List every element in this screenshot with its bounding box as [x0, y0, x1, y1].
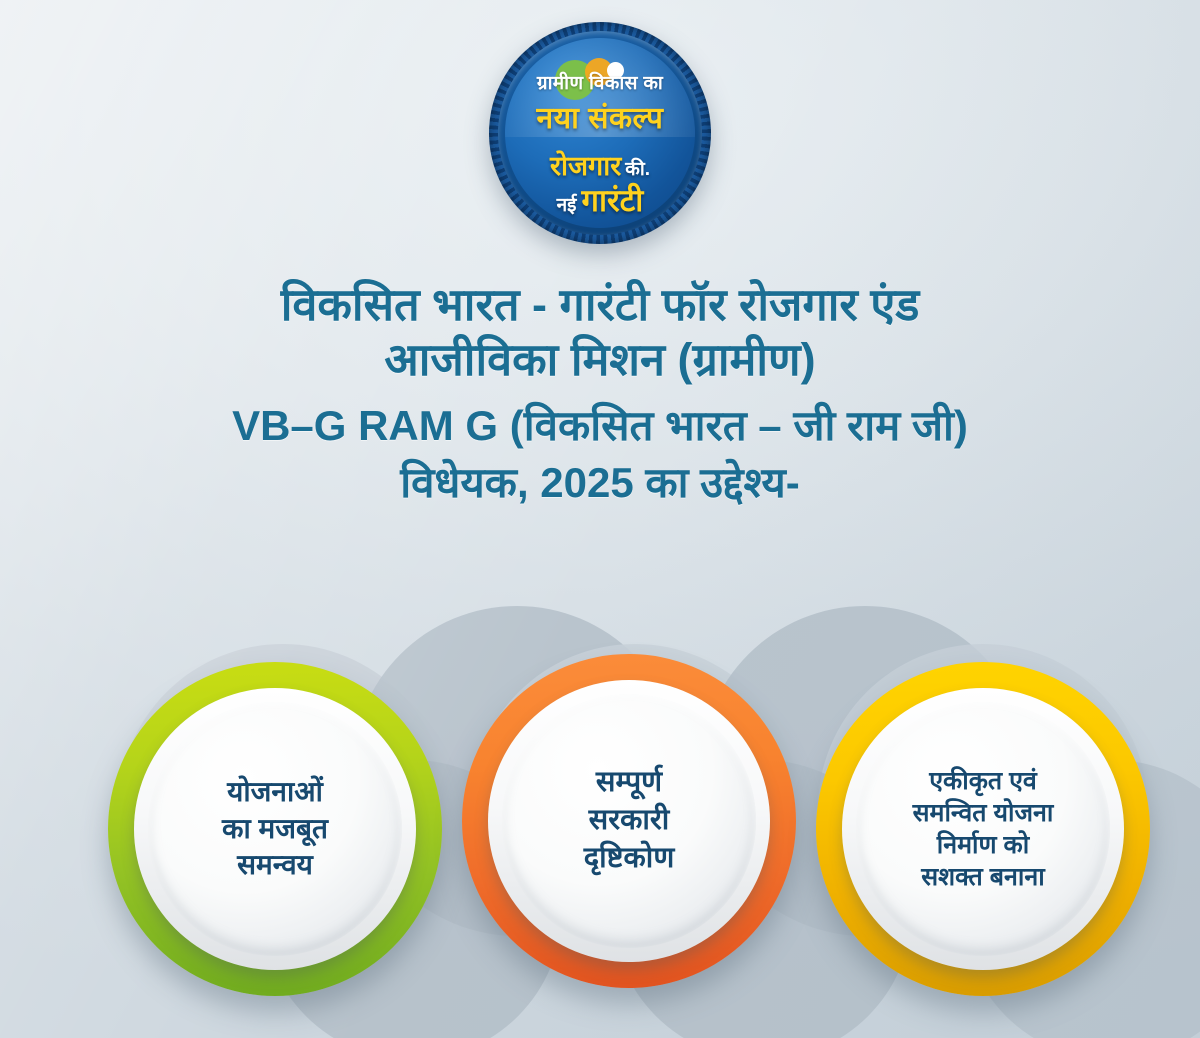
objective-circle-coordination: योजनाओं का मजबूत समन्वय — [108, 662, 442, 996]
page-title: विकसित भारत - गारंटी फॉर रोजगार एंड आजीव… — [0, 278, 1200, 508]
objective-circle-integrated-planning: एकीकृत एवं समन्वित योजना निर्माण को सशक्… — [816, 662, 1150, 996]
objective-label: एकीकृत एवं समन्वित योजना निर्माण को सशक्… — [897, 765, 1070, 893]
objective-plate: योजनाओं का मजबूत समन्वय — [148, 702, 402, 956]
badge-line-3: रोजगार की. — [550, 146, 650, 183]
campaign-badge-logo: ग्रामीण विकास का नया संकल्प रोजगार की. न… — [489, 22, 711, 244]
badge-line-3-main: रोजगार — [550, 146, 621, 183]
title-line-1: विकसित भारत - गारंटी फॉर रोजगार एंड — [0, 278, 1200, 333]
objective-label: सम्पूर्ण सरकारी दृष्टिकोण — [568, 764, 691, 877]
badge-line-1: ग्रामीण विकास का — [537, 69, 663, 95]
objectives-group: योजनाओं का मजबूत समन्वय सम्पूर्ण सरकारी … — [0, 640, 1200, 1038]
badge-line-4-small: नई — [557, 191, 577, 217]
objective-label: योजनाओं का मजबूत समन्वय — [206, 774, 344, 883]
badge-line-2: नया संकल्प — [537, 96, 664, 137]
title-line-3: VB–G RAM G (विकसित भारत – जी राम जी) — [0, 400, 1200, 451]
badge-face: ग्रामीण विकास का नया संकल्प रोजगार की. न… — [505, 38, 695, 228]
infographic-poster: ग्रामीण विकास का नया संकल्प रोजगार की. न… — [0, 0, 1200, 1038]
title-line-2: आजीविका मिशन (ग्रामीण) — [0, 333, 1200, 388]
objective-plate: एकीकृत एवं समन्वित योजना निर्माण को सशक्… — [856, 702, 1110, 956]
objective-circle-whole-of-government: सम्पूर्ण सरकारी दृष्टिकोण — [462, 654, 796, 988]
title-line-4: विधेयक, 2025 का उद्देश्य- — [0, 457, 1200, 508]
badge-line-3-small: की. — [625, 155, 650, 181]
objective-plate: सम्पूर्ण सरकारी दृष्टिकोण — [502, 694, 756, 948]
badge-line-4: नई गारंटी — [557, 179, 644, 221]
badge-line-4-main: गारंटी — [582, 179, 644, 221]
